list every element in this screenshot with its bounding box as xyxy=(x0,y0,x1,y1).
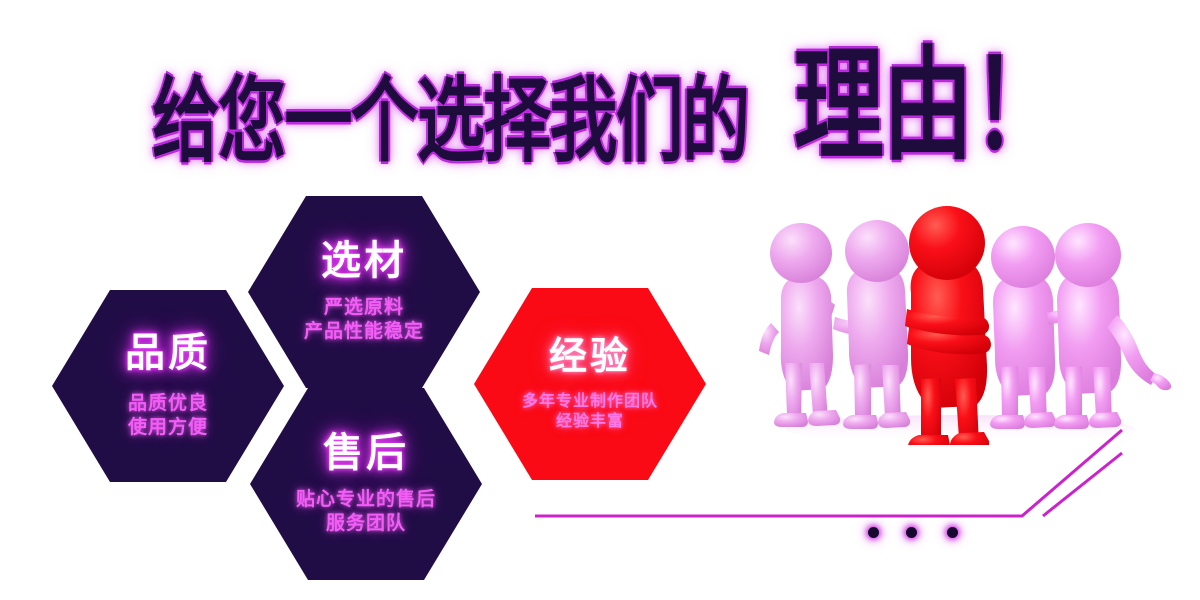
poster-canvas: 给您一个选择我们的 理由！ 品质 品质优良 使用方便 选材 严选原料 产品性能稳… xyxy=(0,0,1200,600)
decorative-dot-1 xyxy=(868,527,879,538)
hexagon-title: 选材 xyxy=(321,241,407,281)
page-title: 给您一个选择我们的 理由！ xyxy=(0,58,1200,168)
hexagon-subtitle-line-1: 严选原料 xyxy=(304,295,424,319)
hexagon-subtitle: 严选原料 产品性能稳定 xyxy=(304,295,424,344)
decorative-dot-3 xyxy=(947,527,958,538)
decorative-dot-2 xyxy=(906,527,917,538)
decorative-polyline-primary xyxy=(535,430,1122,516)
figurine-1 xyxy=(759,223,840,427)
figurine-5 xyxy=(1054,223,1171,429)
hexagon-card-xuancai[interactable]: 选材 严选原料 产品性能稳定 xyxy=(248,196,480,388)
hexagon-title: 品质 xyxy=(125,333,211,373)
headline-text-main: 给您一个选择我们的 xyxy=(152,76,748,169)
hexagon-subtitle-line-2: 产品性能稳定 xyxy=(304,319,424,343)
figurine-2 xyxy=(833,220,910,429)
headline-text-emphasis: 理由！ xyxy=(794,46,1062,169)
decorative-lines-svg xyxy=(0,400,1200,600)
hexagon-title: 经验 xyxy=(549,337,631,375)
decorative-lines xyxy=(0,400,1200,600)
